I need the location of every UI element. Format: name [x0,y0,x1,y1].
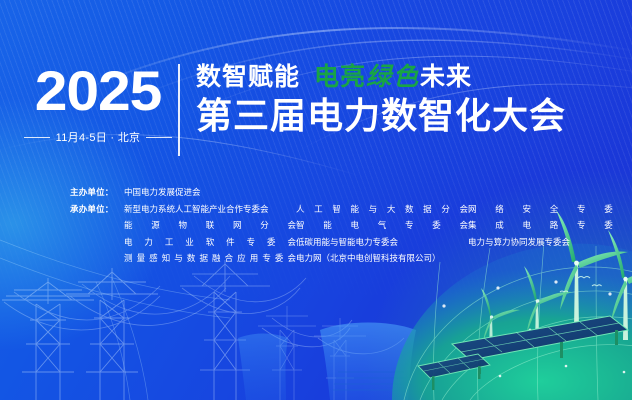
coorganizer-cell: 测量感知与数据融合应用专委会 [124,250,296,267]
coorganizer-cell: 低碳用能与智能电力专委会 [296,234,468,251]
rule-left [24,137,50,138]
coorganizer-cell: 集成电路专委会 [468,217,632,234]
coorganizer-row-0: 承办单位： 新型电力系统人工智能产业合作专委会 人工智能与大数据分会 网络安全专… [70,201,590,218]
transmission-tower-icon [2,260,404,400]
coorganizer-row-2: 电力工业软件专委会 低碳用能与智能电力专委会 电力与算力协同发展专委会 [70,234,590,251]
coorganizer-cell: 网络安全专委会 [468,201,632,218]
coorganizer-label: 承办单位： [70,201,124,218]
slogan-part3-green-italic: 绿色 [366,63,420,91]
coorganizer-row-1: 能源物联网分会 智能电气专委会 集成电路专委会 [70,217,590,234]
coorganizer-cell: 电力工业软件专委会 [124,234,296,251]
host-row: 主办单位： 中国电力发展促进会 [70,184,590,201]
coorganizer-cell: 电力与算力协同发展专委会 [468,234,632,251]
coorganizer-cell: 人工智能与大数据分会 [296,201,468,218]
bird-icon [560,277,602,293]
host-label: 主办单位： [70,184,124,201]
title-block: 数智赋能电亮绿色未来 第三届电力数智化大会 [196,62,566,137]
slogan-part4: 未来 [420,63,472,91]
year-block: 2025 11月4-5日 · 北京 [22,62,174,145]
coorganizer-cell: 智能电气专委会 [296,217,468,234]
coorganizer-cell: 电力网（北京中电创智科技有限公司） [296,250,526,267]
conference-poster: 2025 11月4-5日 · 北京 数智赋能电亮绿色未来 第三届电力数智化大会 … [0,0,632,400]
main-title: 第三届电力数智化大会 [196,95,566,137]
slogan-part1: 数智赋能 [196,63,300,91]
poster-header: 2025 11月4-5日 · 北京 数智赋能电亮绿色未来 第三届电力数智化大会 [0,62,632,170]
host-value: 中国电力发展促进会 [124,184,354,201]
cooling-tower-icon [238,323,416,400]
organizer-section: 主办单位： 中国电力发展促进会 承办单位： 新型电力系统人工智能产业合作专委会 … [70,184,590,267]
year-text: 2025 [18,62,178,120]
rule-right [146,137,172,138]
date-location-text: 11月4-5日 · 北京 [56,129,141,145]
slogan-part2-green: 电亮 [314,63,366,91]
date-location-line: 11月4-5日 · 北京 [22,129,174,145]
slogan-line: 数智赋能电亮绿色未来 [196,62,566,92]
coorganizer-cell: 新型电力系统人工智能产业合作专委会 [124,201,296,218]
coorganizer-cell: 能源物联网分会 [124,217,296,234]
coorganizer-row-3: 测量感知与数据融合应用专委会 电力网（北京中电创智科技有限公司） [70,250,590,267]
solar-panel-icon [418,316,628,390]
vertical-divider [178,64,180,156]
